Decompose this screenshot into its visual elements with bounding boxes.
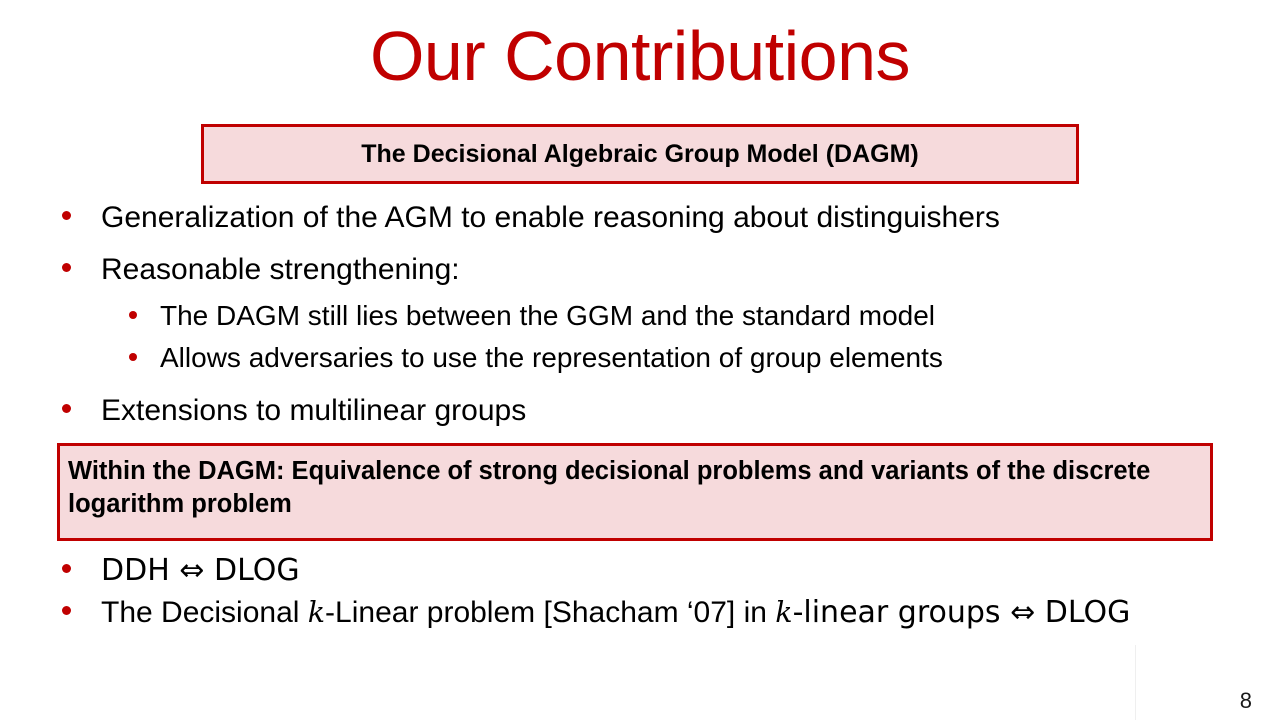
bullet-label-part3: -linear groups ⇔ DLOG [793, 595, 1131, 630]
bullet-item-multilinear-extensions: Extensions to multilinear groups [62, 393, 526, 429]
bullet-label: The Decisional k-Linear problem [Shacham… [101, 595, 1130, 631]
bullet-dot-icon [62, 606, 71, 615]
bullet-dot-icon [62, 404, 71, 413]
bullet-dot-icon [62, 564, 71, 573]
bullet-label: Extensions to multilinear groups [101, 393, 526, 429]
bullet-dot-icon [62, 263, 71, 272]
bullet-label: Generalization of the AGM to enable reas… [101, 200, 1000, 236]
callout-dagm-text: The Decisional Algebraic Group Model (DA… [361, 140, 918, 169]
callout-equivalence-text: Within the DAGM: Equivalence of strong d… [68, 457, 1150, 518]
callout-box-dagm: The Decisional Algebraic Group Model (DA… [201, 124, 1079, 184]
bullet-dot-icon [129, 353, 137, 361]
bullet-dot-icon [62, 211, 71, 220]
bullet-label: DDH ⇔ DLOG [101, 553, 300, 589]
faint-divider [1135, 645, 1136, 720]
bullet-dot-icon [129, 311, 137, 319]
sub-bullet-label: Allows adversaries to use the representa… [160, 341, 943, 375]
sub-bullet-label: The DAGM still lies between the GGM and … [160, 299, 935, 333]
math-variable-k: k [775, 596, 792, 629]
callout-box-equivalence: Within the DAGM: Equivalence of strong d… [57, 443, 1213, 541]
bullet-item-ddh-dlog: DDH ⇔ DLOG [62, 553, 300, 589]
sub-bullet-item-dagm-between: The DAGM still lies between the GGM and … [129, 299, 935, 333]
sub-bullet-item-representation: Allows adversaries to use the representa… [129, 341, 943, 375]
bullet-item-reasonable-strengthening: Reasonable strengthening: [62, 252, 460, 288]
bullet-item-k-linear-dlog: The Decisional k-Linear problem [Shacham… [62, 595, 1130, 631]
bullet-label-part2: -Linear problem [Shacham ‘07] in [325, 596, 775, 629]
bullet-label-part1: The Decisional [101, 596, 308, 629]
math-variable-k: k [308, 596, 325, 629]
page-number: 8 [1240, 688, 1252, 714]
bullet-label: Reasonable strengthening: [101, 252, 460, 288]
page-title: Our Contributions [0, 14, 1280, 98]
bullet-item-generalization: Generalization of the AGM to enable reas… [62, 200, 1000, 236]
